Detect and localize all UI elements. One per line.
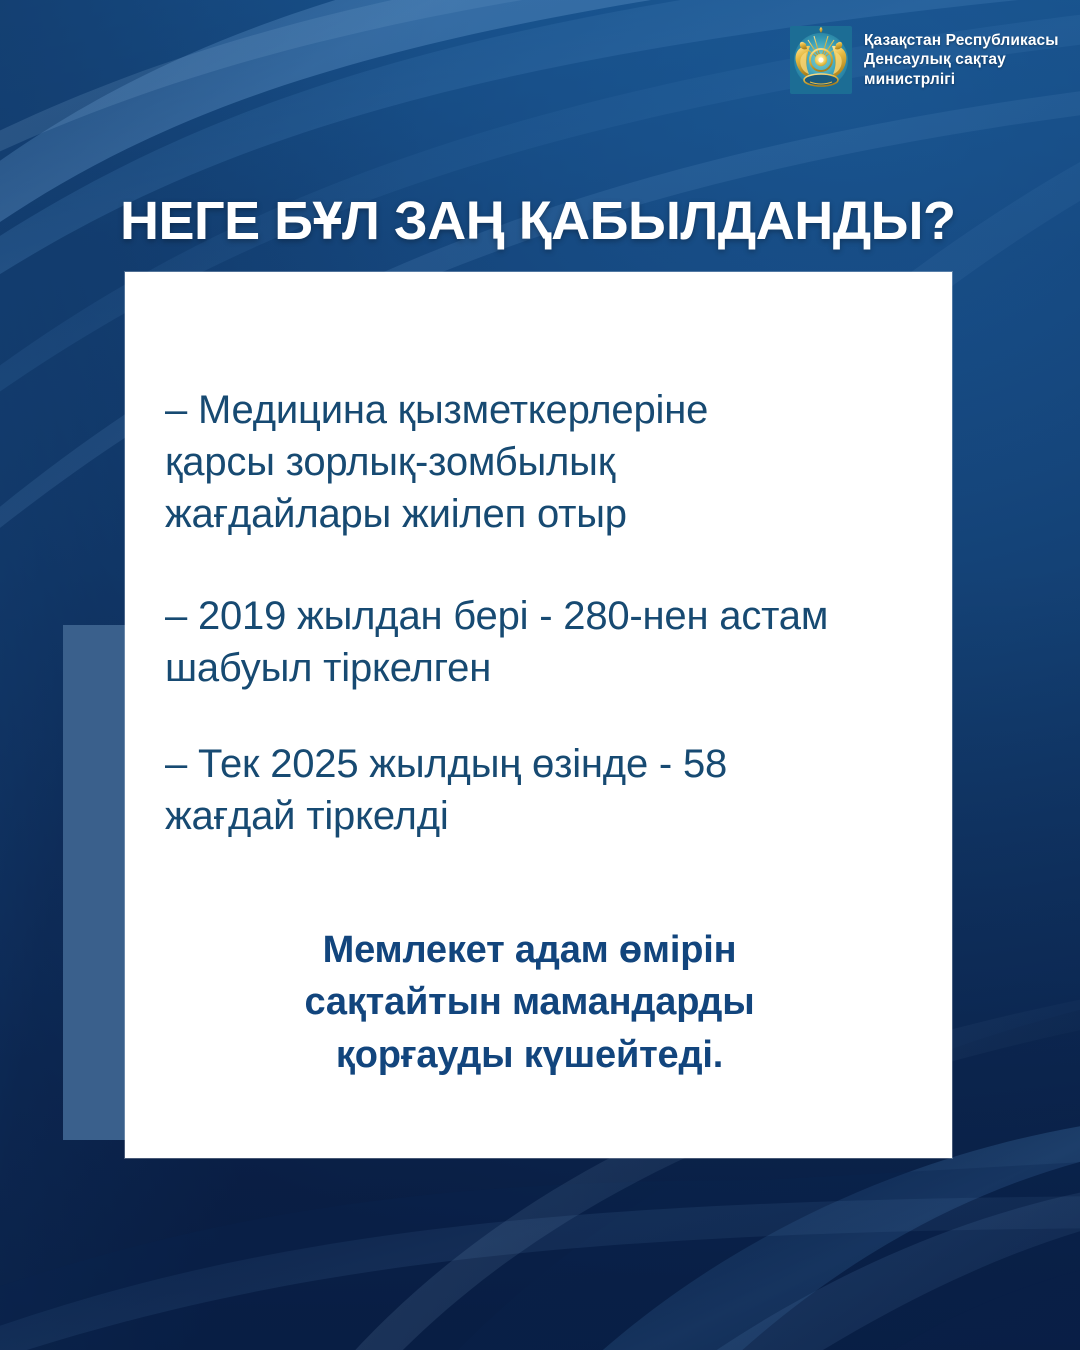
poster-root: Қазақстан Республикасы Денсаулық сақтау … [0,0,1080,1350]
list-item: – Медицина қызметкерлеріне қарсы зорлық-… [165,384,894,540]
kazakhstan-state-emblem-icon [790,26,852,94]
ministry-name-line-2: Денсаулық сақтау [864,50,1059,70]
ministry-logo: Қазақстан Республикасы Денсаулық сақтау … [790,26,1059,94]
ministry-name-line-1: Қазақстан Республикасы [864,31,1059,51]
content-card-body: – Медицина қызметкерлеріне қарсы зорлық-… [125,272,952,1158]
page-title: НЕГЕ БҰЛ ЗАҢ ҚАБЫЛДАНДЫ? [120,193,1000,250]
list-item: – Тек 2025 жылдың өзінде - 58 жағдай тір… [165,738,894,842]
list-item: – 2019 жылдан бері - 280-нен астам шабуы… [165,590,894,694]
conclusion-statement: Мемлекет адам өмірін сақтайтын мамандард… [165,924,894,1081]
ministry-name: Қазақстан Республикасы Денсаулық сақтау … [864,31,1059,90]
ministry-name-line-3: министрлігі [864,70,1059,90]
content-card: – Медицина қызметкерлеріне қарсы зорлық-… [125,272,952,1158]
